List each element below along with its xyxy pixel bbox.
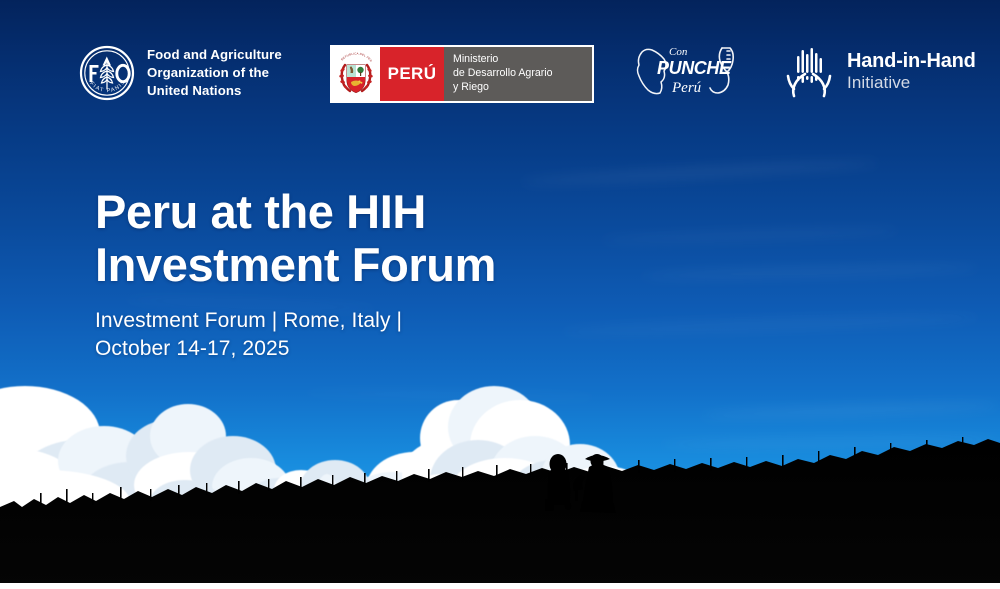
fao-emblem-icon: FIAT PANIS bbox=[78, 44, 136, 102]
punche-line3: Perú bbox=[671, 80, 702, 96]
hand-in-hand-title: Hand-in-Hand bbox=[847, 50, 976, 72]
midagri-logo: REPUBLICA DEL PERU bbox=[330, 45, 594, 103]
fao-logo: FIAT PANIS Food and Agriculture Organiza… bbox=[78, 44, 282, 102]
bottom-white-strip bbox=[0, 583, 1000, 589]
svg-text:REPUBLICA DEL PERU: REPUBLICA DEL PERU bbox=[336, 51, 373, 63]
hand-in-hand-subtitle: Initiative bbox=[847, 73, 976, 92]
event-details: Investment Forum | Rome, Italy | October… bbox=[95, 307, 715, 362]
hill-silhouette bbox=[0, 389, 1000, 589]
peru-coat-of-arms-icon: REPUBLICA DEL PERU bbox=[332, 47, 380, 101]
midagri-country-label: PERÚ bbox=[380, 47, 444, 101]
event-banner: FIAT PANIS Food and Agriculture Organiza… bbox=[0, 0, 1000, 589]
headline-block: Peru at the HIH Investment Forum Investm… bbox=[95, 185, 715, 363]
hand-in-hand-mark-icon bbox=[784, 44, 834, 98]
punche-line2: PUNCHE bbox=[657, 58, 732, 78]
partner-logo-row: FIAT PANIS Food and Agriculture Organiza… bbox=[0, 0, 1000, 130]
con-punche-peru-logo-icon: Con PUNCHE Perú bbox=[630, 38, 740, 104]
fao-name: Food and Agriculture Organization of the… bbox=[147, 46, 282, 100]
hand-in-hand-logo: Hand-in-Hand Initiative bbox=[784, 44, 976, 98]
midagri-ministry-label: Ministerio de Desarrollo Agrario y Riego bbox=[444, 47, 592, 101]
page-title: Peru at the HIH Investment Forum bbox=[95, 185, 715, 291]
punche-line1: Con bbox=[669, 46, 688, 58]
